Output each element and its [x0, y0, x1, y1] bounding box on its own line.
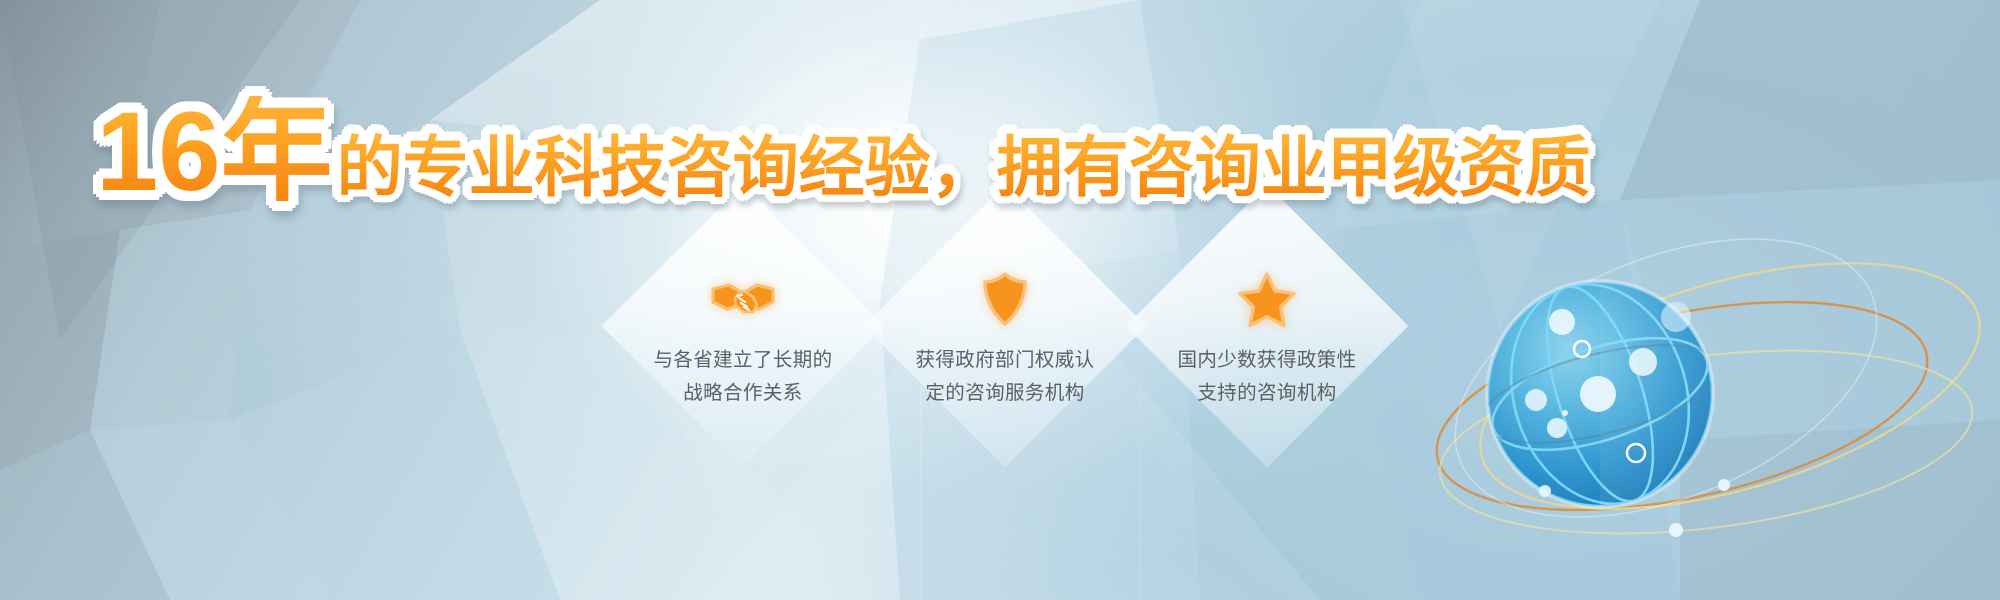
feature-line-1: 国内少数获得政策性 — [1177, 344, 1356, 377]
headline: 16年 的专业科技咨询经验，拥有咨询业甲级资质 — [96, 96, 1591, 208]
headline-text: 的专业科技咨询经验，拥有咨询业甲级资质 — [337, 132, 1591, 202]
feature-card-policy[interactable]: 国内少数获得政策性 支持的咨询机构 — [1136, 226, 1398, 488]
star-icon — [1236, 270, 1298, 328]
feature-line-2: 定的咨询服务机构 — [915, 377, 1094, 410]
feature-line-1: 与各省建立了长期的 — [653, 344, 832, 377]
feature-line-2: 战略合作关系 — [653, 377, 832, 410]
banner-root: 16年 的专业科技咨询经验，拥有咨询业甲级资质 — [0, 0, 2000, 600]
feature-line-2: 支持的咨询机构 — [1177, 377, 1356, 410]
feature-list: 与各省建立了长期的 战略合作关系 获得政府部门权威认 定的咨询服务机构 — [612, 226, 1402, 488]
headline-years: 16年 — [96, 96, 337, 208]
globe-network-graphic — [1430, 210, 2000, 600]
feature-line-1: 获得政府部门权威认 — [915, 344, 1094, 377]
feature-card-partnership[interactable]: 与各省建立了长期的 战略合作关系 — [612, 226, 874, 488]
shield-icon — [974, 270, 1036, 328]
feature-card-authority[interactable]: 获得政府部门权威认 定的咨询服务机构 — [874, 226, 1136, 488]
handshake-icon — [712, 270, 774, 328]
